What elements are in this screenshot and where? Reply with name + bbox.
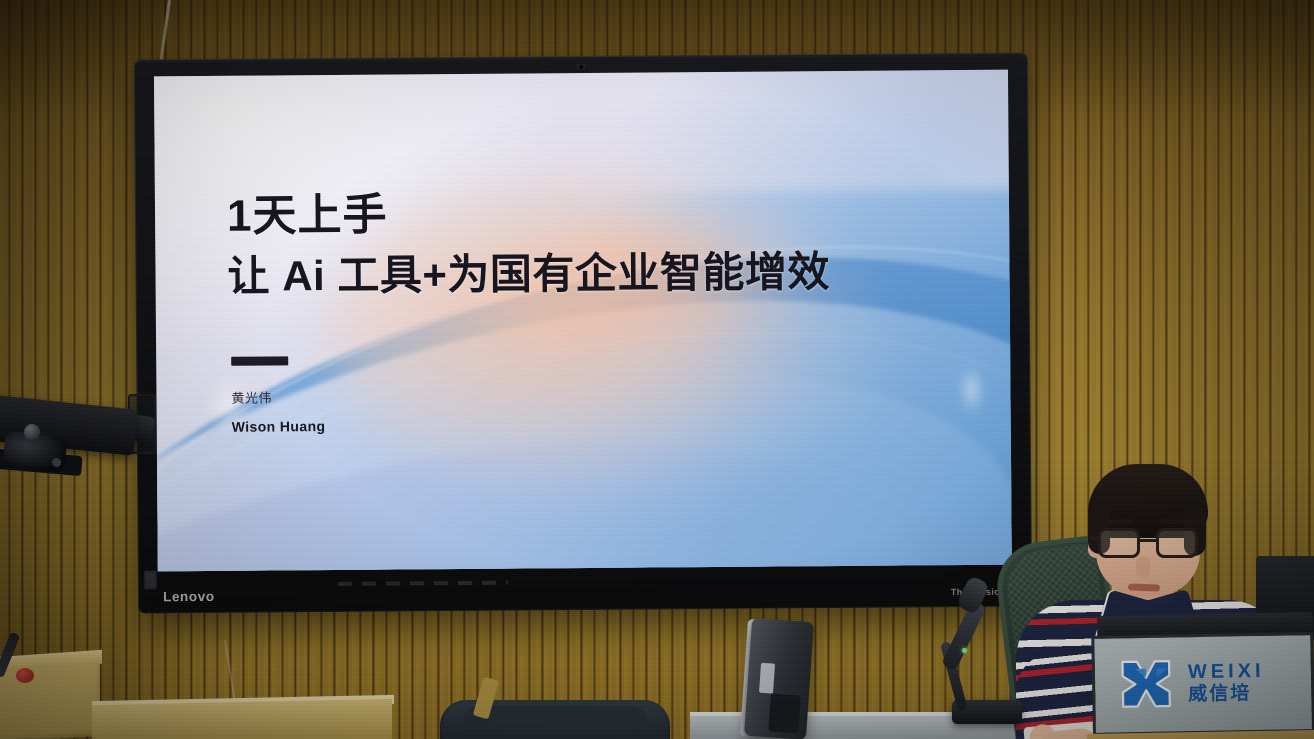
screen-sheen	[154, 70, 1012, 572]
microphone-status-led	[962, 648, 967, 653]
eyeglass-bridge	[1140, 539, 1156, 542]
laptop-screen[interactable]: WEIXI 威信培	[1091, 632, 1314, 736]
rig-adjust-knob[interactable]	[24, 424, 40, 440]
rig-screw	[52, 458, 61, 467]
front-desk	[92, 699, 392, 739]
webcam-lens-icon	[579, 64, 583, 68]
slide-title-line2: 让 Ai 工具+为国有企业智能增效	[227, 249, 830, 299]
tablet-label	[759, 663, 775, 694]
ceiling-camera-rig	[0, 388, 161, 508]
tablet-device[interactable]	[744, 618, 814, 739]
display-monitor[interactable]: 1天上手 让 Ai 工具+为国有企业智能增效 黄光伟 Wison Huang L…	[134, 52, 1032, 613]
ir-sensor-icon	[144, 570, 157, 589]
screen-reflection-right	[958, 366, 984, 414]
laptop-device[interactable]: WEIXI 威信培	[1089, 612, 1314, 739]
eyeglasses-icon	[1098, 528, 1202, 560]
podium-microphone-head-icon	[16, 668, 34, 683]
presentation-slide[interactable]: 1天上手 让 Ai 工具+为国有企业智能增效 黄光伟 Wison Huang	[154, 70, 1012, 572]
weixin-w-logo-icon	[1117, 657, 1176, 710]
weixin-logo-en: WEIXI	[1188, 661, 1265, 682]
display-brand-logo: Lenovo	[163, 589, 215, 604]
webcam-icon	[574, 62, 587, 71]
tablet-stand-hinge	[768, 693, 801, 733]
presenter-name-cn: 黄光伟	[231, 387, 325, 407]
weixin-logo-cn: 威信培	[1188, 684, 1265, 704]
weixin-logo-text: WEIXI 威信培	[1188, 661, 1265, 704]
slide-divider-rule	[231, 356, 288, 365]
presenter-mouth	[1128, 583, 1160, 591]
presenter-byline: 黄光伟 Wison Huang	[231, 387, 325, 435]
slide-title-line1: 1天上手	[227, 189, 830, 240]
slide-title-block: 1天上手 让 Ai 工具+为国有企业智能增效	[227, 189, 830, 299]
eyeglass-lens-left	[1098, 528, 1140, 558]
presenter-name-en: Wison Huang	[232, 418, 326, 435]
eyeglass-lens-right	[1156, 528, 1198, 558]
lecture-hall-scene: 1天上手 让 Ai 工具+为国有企业智能增效 黄光伟 Wison Huang L…	[0, 0, 1314, 739]
weixin-logo-block: WEIXI 威信培	[1117, 656, 1266, 711]
